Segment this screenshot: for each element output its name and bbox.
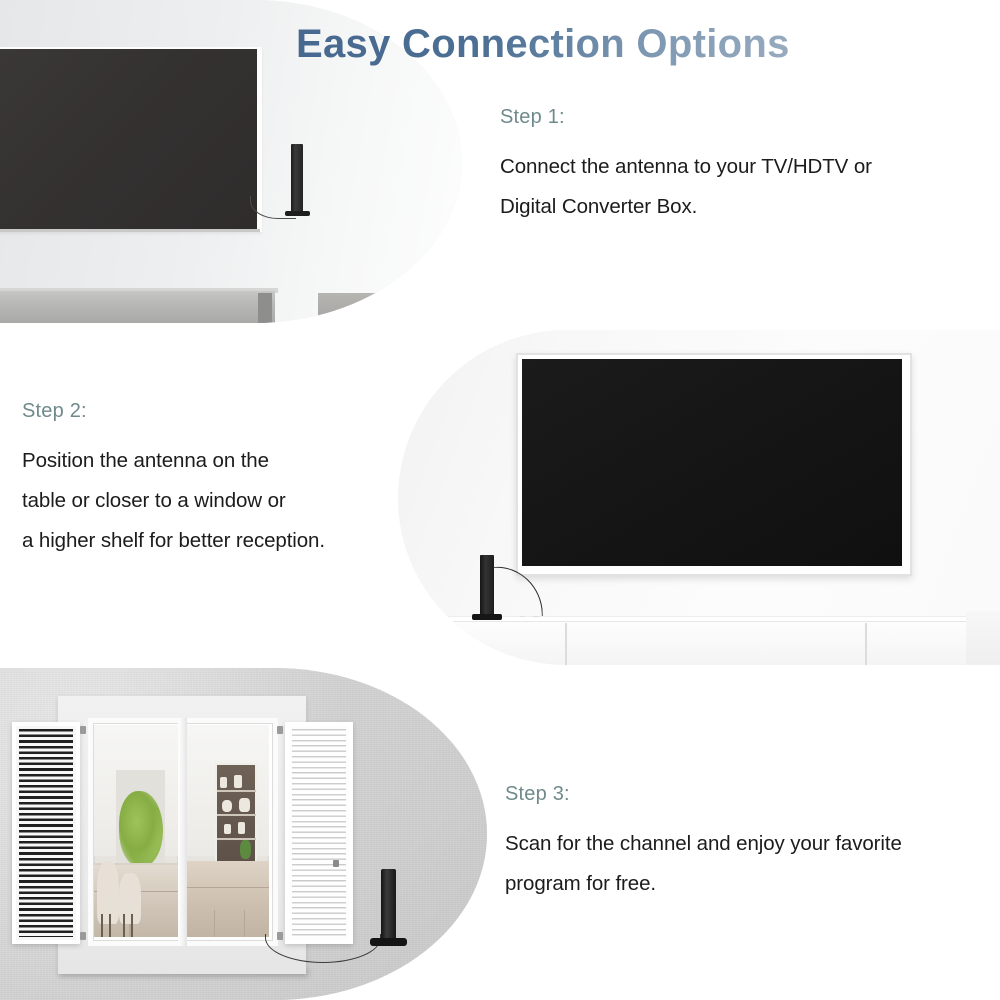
page-title: Easy Connection Options xyxy=(296,22,790,67)
dish xyxy=(234,775,242,787)
step-3-body: Scan for the channel and enjoy your favo… xyxy=(505,824,902,904)
step-2-line-1: Position the antenna on the xyxy=(22,441,325,481)
stool-leg xyxy=(109,914,111,937)
tv-screen xyxy=(522,359,902,566)
wall-block xyxy=(318,293,414,323)
shutter-hinge xyxy=(277,726,283,734)
window-mullion xyxy=(178,718,187,946)
kitchen-shelving xyxy=(215,763,257,865)
cabinet-seam xyxy=(565,623,567,665)
cabinet-line xyxy=(214,910,216,937)
step-1-line-1: Connect the antenna to your TV/HDTV or xyxy=(500,147,872,187)
cabinet-side xyxy=(966,611,1000,665)
dish xyxy=(220,777,227,787)
dish xyxy=(239,798,250,812)
white-cabinet xyxy=(418,621,978,665)
step-1-label: Step 1: xyxy=(500,106,872,129)
cabinet-line xyxy=(244,910,246,937)
step-2-line-2: table or closer to a window or xyxy=(22,481,325,521)
dish xyxy=(224,824,232,834)
cabinet-line xyxy=(185,887,269,889)
right-shutter xyxy=(285,722,353,944)
cabinet-seam xyxy=(865,623,867,665)
shutter-hinge xyxy=(80,932,86,940)
tv-bezel xyxy=(0,229,260,232)
kitchen-cabinets xyxy=(185,861,269,937)
step-2-text: Step 2: Position the antenna on the tabl… xyxy=(22,400,325,561)
shutter-louvers xyxy=(292,729,346,937)
step-3-text: Step 3: Scan for the channel and enjoy y… xyxy=(505,783,902,904)
shelf-plant xyxy=(240,840,251,858)
step-1-line-2: Digital Converter Box. xyxy=(500,187,872,227)
shutter-louvers xyxy=(19,729,73,937)
shutter-hinge xyxy=(80,726,86,734)
step-2-label: Step 2: xyxy=(22,400,325,423)
dish xyxy=(238,822,245,834)
glass-pane-left xyxy=(94,725,178,937)
step-2-line-3: a higher shelf for better reception. xyxy=(22,521,325,561)
antenna-bar xyxy=(381,869,396,941)
antenna-bar xyxy=(480,555,494,617)
antenna-bar xyxy=(291,144,303,214)
step-2-body: Position the antenna on the table or clo… xyxy=(22,441,325,561)
step-3-label: Step 3: xyxy=(505,783,902,806)
infographic-page: Easy Connection Options Step 1: Connect … xyxy=(0,0,1000,1000)
glass-pane-right xyxy=(185,725,269,937)
shutter-latch xyxy=(333,860,339,867)
tv-screen xyxy=(0,49,257,229)
shelf xyxy=(217,790,256,792)
stool-leg xyxy=(101,914,103,937)
dish xyxy=(222,800,232,812)
stool-leg xyxy=(123,914,125,937)
antenna-base xyxy=(472,614,502,620)
indoor-plant xyxy=(119,791,163,867)
media-console xyxy=(0,291,275,323)
step-3-line-2: program for free. xyxy=(505,864,902,904)
shelf xyxy=(217,838,256,840)
media-console-end xyxy=(258,293,272,323)
step-1-text: Step 1: Connect the antenna to your TV/H… xyxy=(500,106,872,227)
antenna-base xyxy=(285,211,310,216)
shelf xyxy=(217,814,256,816)
left-shutter xyxy=(12,722,80,944)
step-1-body: Connect the antenna to your TV/HDTV or D… xyxy=(500,147,872,227)
photo-panel-step3 xyxy=(0,668,487,1000)
antenna-base xyxy=(370,938,407,946)
stool-leg xyxy=(131,914,133,937)
photo-panel-step2 xyxy=(398,330,1000,665)
step-3-line-1: Scan for the channel and enjoy your favo… xyxy=(505,824,902,864)
